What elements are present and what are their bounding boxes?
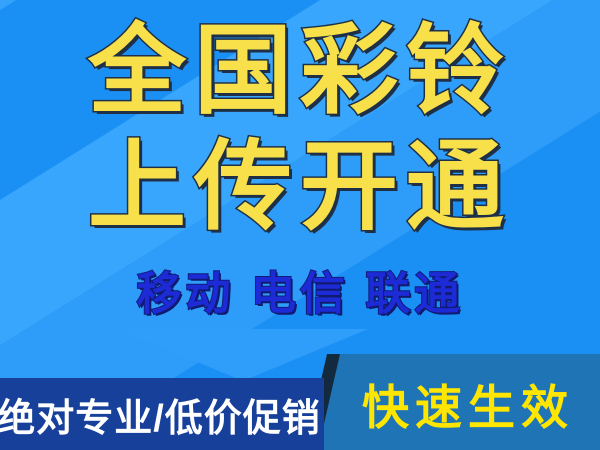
right-panel-label: 快速生效 [336, 362, 600, 444]
headline-block: 全国彩铃 上传开通 [0, 0, 600, 248]
carrier-list: 移动 电信 联通 [0, 266, 600, 322]
headline-line-2: 上传开通 [0, 124, 600, 248]
carrier-list-label: 移动 电信 联通 [136, 268, 463, 319]
headline-line-1: 全国彩铃 [0, 8, 600, 132]
promo-poster: 全国彩铃 上传开通 移动 电信 联通 快速生效 绝对专业/低价促销 [0, 0, 600, 450]
left-banner-label: 绝对专业/低价促销 [0, 378, 318, 450]
